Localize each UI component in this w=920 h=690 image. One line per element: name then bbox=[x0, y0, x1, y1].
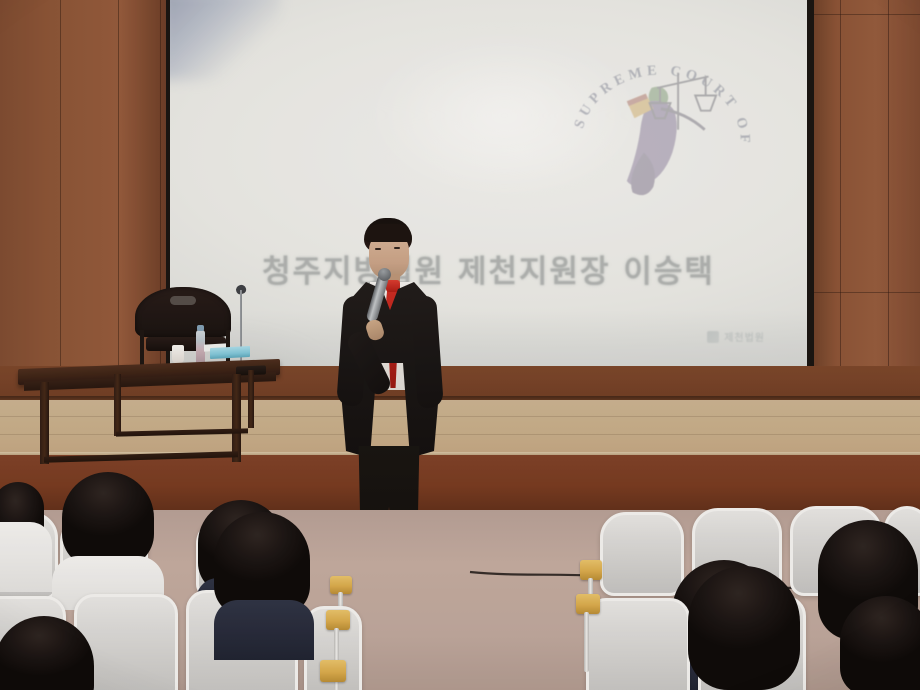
auditorium-lecture-photo: SUPREME COURT OF KOREA bbox=[0, 0, 920, 690]
paper-cup bbox=[172, 345, 184, 363]
stage-chair-handle-slot bbox=[170, 296, 196, 305]
attendee-left-row1-head bbox=[62, 472, 154, 568]
presenter-eye-right bbox=[394, 247, 400, 249]
table-leg-back-left bbox=[114, 374, 121, 436]
projection-screen-frame: SUPREME COURT OF KOREA bbox=[166, 0, 814, 388]
attendee-front-center-head bbox=[688, 566, 800, 690]
table-leg-front-right bbox=[232, 374, 241, 462]
attendee-far-left-shirt bbox=[0, 522, 52, 592]
stage-chair-backrest bbox=[135, 287, 231, 337]
water-bottle-cap bbox=[197, 325, 204, 331]
attendee-center-row2-shirt bbox=[214, 600, 314, 660]
armrest-back-right-1 bbox=[580, 560, 602, 580]
armrest-front-left-2 bbox=[320, 660, 346, 682]
table-leg-back-right bbox=[248, 370, 254, 428]
presenter-eye-left bbox=[375, 248, 381, 250]
document-folder bbox=[210, 346, 250, 359]
presenter-hair-fringe bbox=[365, 224, 412, 242]
slide-title-text: 청주지방법원 제천지원장 이승택 bbox=[170, 246, 807, 291]
seat-front-right-1 bbox=[586, 598, 690, 690]
seat-back-right-1 bbox=[600, 512, 684, 596]
attendee-far-right-head bbox=[840, 596, 920, 690]
supreme-court-of-korea-emblem: SUPREME COURT OF KOREA bbox=[563, 48, 759, 200]
armrest-front-right-1 bbox=[576, 594, 600, 614]
table-leg-front-left bbox=[40, 382, 49, 464]
armrest-post-front-right-1 bbox=[584, 612, 589, 672]
armrest-front-left-1 bbox=[326, 610, 350, 630]
projection-screen: SUPREME COURT OF KOREA bbox=[170, 0, 807, 380]
screen-shadow-topleft bbox=[170, 0, 280, 80]
